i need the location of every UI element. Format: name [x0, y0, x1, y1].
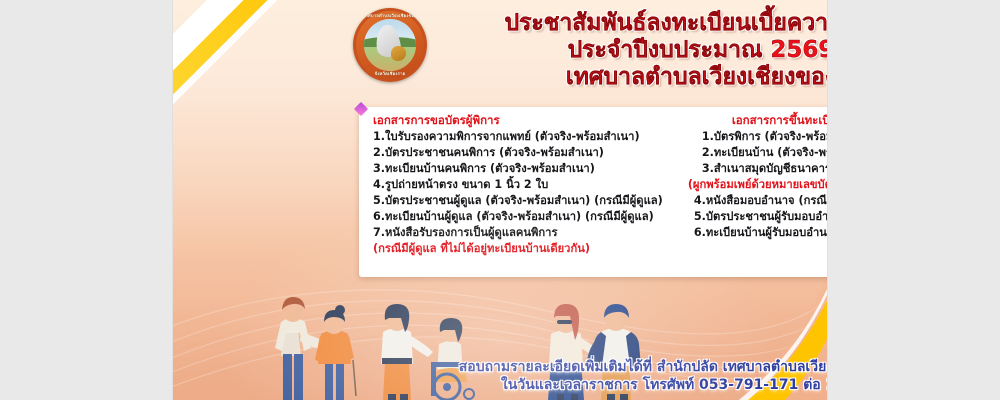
- poster: เทศบาลตำบลเวียงเชียงของ จังหวัดเชียงราย …: [173, 0, 827, 400]
- right-requirements-column: เอกสารการขึ้นทะเบียนรับเบี้ยความพิการ 1.…: [684, 107, 827, 277]
- list-item: 4.รูปถ่ายหน้าตรง ขนาด 1 นิ้ว 2 ใบ: [373, 177, 684, 193]
- screenshot-canvas: เทศบาลตำบลเวียงเชียงของ จังหวัดเชียงราย …: [0, 0, 1000, 400]
- headline-line-1: ประชาสัมพันธ์ลงทะเบียนเบี้ยความพิการ: [421, 10, 827, 37]
- corner-ribbon-top-left: [173, 0, 352, 161]
- footer-line-1: สอบถามรายละเอียดเพิ่มเติมได้ที่ สำนักปลั…: [346, 358, 827, 376]
- list-item: 4.หนังสือมอบอำนาจ (กรณีให้ผู้อื่นรับเงิน…: [684, 193, 827, 209]
- emblem-text-top: เทศบาลตำบลเวียงเชียงของ: [353, 14, 427, 18]
- list-item: 5.บัตรประชาชนผู้รับมอบอำนาจ (กรณีผู้อื่น…: [684, 209, 827, 225]
- poster-headline: ประชาสัมพันธ์ลงทะเบียนเบี้ยความพิการ ประ…: [421, 10, 827, 91]
- list-item: 6.ทะเบียนบ้านผู้รับมอบอำนาจ (กรณีผู้อื่น…: [684, 225, 827, 241]
- left-requirements-column: เอกสารการขอบัตรผู้พิการ 1.ใบรับรองความพิ…: [359, 107, 684, 277]
- municipality-emblem-logo: เทศบาลตำบลเวียงเชียงของ จังหวัดเชียงราย: [353, 8, 427, 82]
- contact-footer: สอบถามรายละเอียดเพิ่มเติมได้ที่ สำนักปลั…: [346, 358, 827, 394]
- footer-line-2: ในวันและเวลาราชการ โทรศัพท์ 053-791-171 …: [346, 376, 827, 394]
- list-item: 7.หนังสือรับรองการเป็นผู้ดูแลคนพิการ: [373, 225, 684, 241]
- emblem-text-bottom: จังหวัดเชียงราย: [353, 72, 427, 76]
- list-item: 3.สำเนาสมุดบัญชีธนาคาร: [684, 161, 827, 177]
- emblem-scene: [364, 19, 416, 71]
- list-item: 1.บัตรพิการ (ตัวจริง-พร้อมสำเนา): [684, 129, 827, 145]
- headline-line-2: ประจำปีงบประมาณ 2569: [421, 37, 827, 64]
- list-item: 3.ทะเบียนบ้านคนพิการ (ตัวจริง-พร้อมสำเนา…: [373, 161, 684, 177]
- headline-line-3: เทศบาลตำบลเวียงเชียงของ: [421, 64, 827, 91]
- right-column-note: (ผูกพร้อมเพย์ด้วยหมายเลขบัตรประชาชน): [684, 177, 827, 193]
- left-column-heading: เอกสารการขอบัตรผู้พิการ: [373, 113, 684, 127]
- right-column-heading: เอกสารการขึ้นทะเบียนรับเบี้ยความพิการ: [684, 113, 827, 127]
- list-item: 2.บัตรประชาชนคนพิการ (ตัวจริง-พร้อมสำเนา…: [373, 145, 684, 161]
- list-item: 2.ทะเบียนบ้าน (ตัวจริง-พร้อมสำเนา): [684, 145, 827, 161]
- list-item: 5.บัตรประชาชนผู้ดูแล (ตัวจริง-พร้อมสำเนา…: [373, 193, 684, 209]
- requirements-card: เอกสารการขอบัตรผู้พิการ 1.ใบรับรองความพิ…: [359, 107, 827, 277]
- list-item: 6.ทะเบียนบ้านผู้ดูแล (ตัวจริง-พร้อมสำเนา…: [373, 209, 684, 225]
- list-item: 1.ใบรับรองความพิการจากแพทย์ (ตัวจริง-พร้…: [373, 129, 684, 145]
- turtle-icon: [391, 46, 406, 61]
- left-column-note: (กรณีมีผู้ดูแล ที่ไม่ได้อยู่ทะเบียนบ้านเ…: [373, 241, 684, 257]
